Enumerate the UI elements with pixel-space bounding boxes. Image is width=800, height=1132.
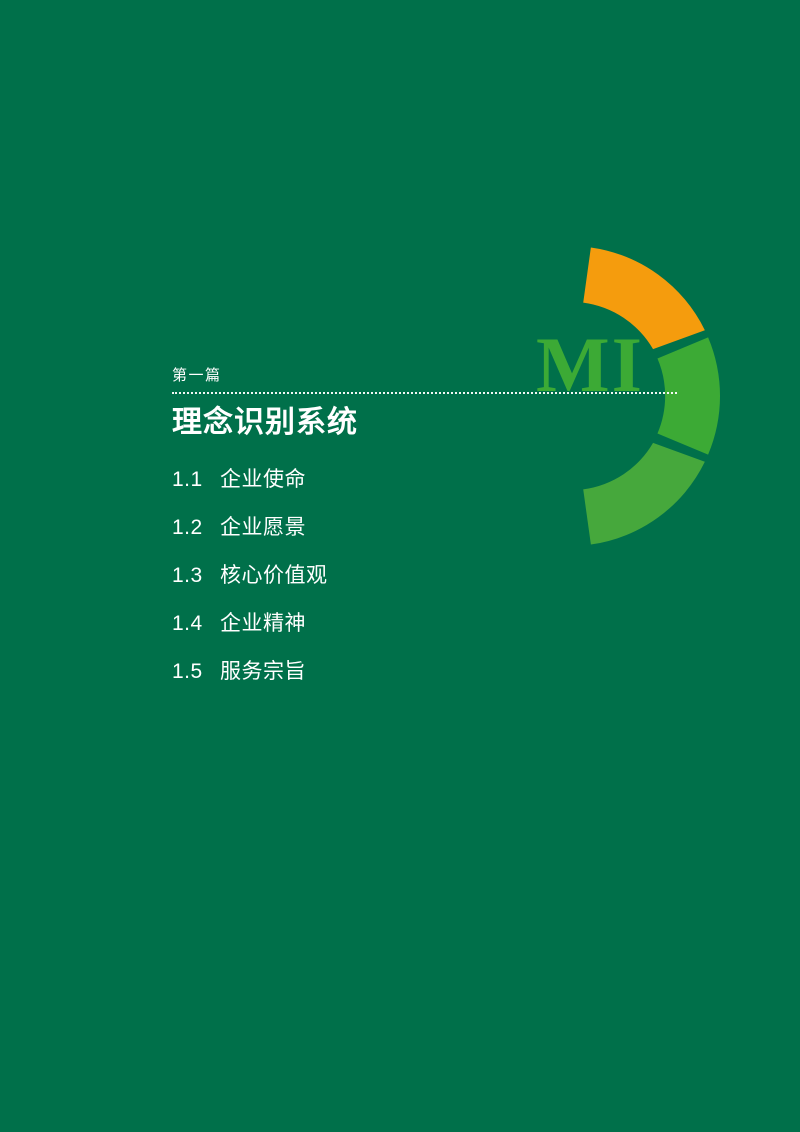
toc-item-number: 1.5 bbox=[172, 661, 220, 682]
toc-item[interactable]: 1.5 服务宗旨 bbox=[172, 661, 692, 682]
toc-item-label: 核心价值观 bbox=[220, 565, 328, 586]
toc-item-label: 企业愿景 bbox=[220, 517, 306, 538]
toc-item-number: 1.2 bbox=[172, 517, 220, 538]
cover-page: MI 第一篇 理念识别系统 1.1 企业使命 1.2 企业愿景 1.3 核心价值… bbox=[0, 0, 800, 1132]
toc-item[interactable]: 1.3 核心价值观 bbox=[172, 565, 692, 586]
toc-item-label: 企业精神 bbox=[220, 613, 306, 634]
toc-item-number: 1.3 bbox=[172, 565, 220, 586]
cover-content: 第一篇 理念识别系统 1.1 企业使命 1.2 企业愿景 1.3 核心价值观 1… bbox=[172, 366, 692, 709]
toc-item[interactable]: 1.4 企业精神 bbox=[172, 613, 692, 634]
dotted-divider bbox=[172, 392, 677, 394]
toc-item-label: 服务宗旨 bbox=[220, 661, 306, 682]
toc-item[interactable]: 1.2 企业愿景 bbox=[172, 517, 692, 538]
toc-item-number: 1.1 bbox=[172, 469, 220, 490]
table-of-contents: 1.1 企业使命 1.2 企业愿景 1.3 核心价值观 1.4 企业精神 1.5… bbox=[172, 469, 692, 682]
chapter-label: 第一篇 bbox=[172, 366, 692, 386]
toc-item-number: 1.4 bbox=[172, 613, 220, 634]
toc-item-label: 企业使命 bbox=[220, 469, 306, 490]
toc-item[interactable]: 1.1 企业使命 bbox=[172, 469, 692, 490]
chapter-title: 理念识别系统 bbox=[172, 404, 692, 442]
